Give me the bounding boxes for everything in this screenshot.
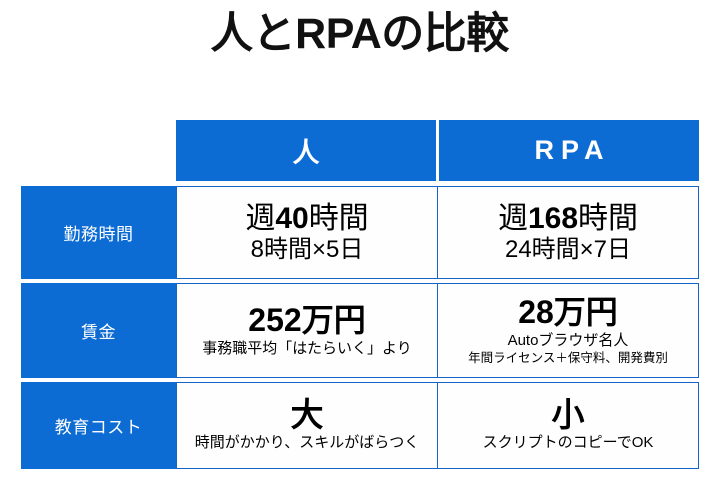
cell-note-line: 事務職平均「はたらいく」より — [202, 339, 411, 359]
table-row: 賃金 252万円 事務職平均「はたらいく」より 28万円 Autoブラウザ名人 … — [21, 283, 699, 378]
main-value: 40 — [275, 202, 308, 235]
comparison-table: 人 RPA 勤務時間 週40時間 8時間×5日 週168時間 24時間×7日 賃… — [21, 120, 699, 469]
cell-note-line-secondary: 年間ライセンス＋保守料、開発費別 — [468, 350, 668, 366]
main-prefix: 週 — [245, 202, 275, 235]
main-value: 168 — [528, 202, 578, 235]
main-value: 大 — [291, 396, 324, 433]
main-prefix: 週 — [498, 202, 528, 235]
cell-rpa-training-cost: 小 スクリプトのコピーでOK — [438, 382, 699, 469]
row-label-text: 賃金 — [81, 318, 116, 343]
cell-main-line: 大 — [291, 398, 324, 433]
cell-main-line: 週40時間 — [245, 202, 368, 236]
cell-main-line: 週168時間 — [498, 202, 638, 236]
row-label-training-cost: 教育コスト — [21, 382, 176, 469]
cell-rpa-working-hours: 週168時間 24時間×7日 — [438, 186, 699, 279]
cell-note-line: 時間がかかり、スキルがばらつく — [195, 433, 419, 453]
cell-sub-line: 8時間×5日 — [251, 236, 364, 264]
cell-main-line: 252万円 — [248, 303, 365, 339]
main-value: 252 — [248, 302, 301, 338]
main-value: 小 — [552, 396, 585, 433]
row-label-text: 勤務時間 — [64, 220, 134, 245]
main-suffix: 万円 — [302, 302, 366, 338]
cell-main-line: 小 — [552, 398, 585, 433]
cell-main-line: 28万円 — [518, 295, 618, 331]
main-suffix: 万円 — [554, 294, 618, 330]
column-header-rpa-label: RPA — [527, 135, 610, 166]
cell-sub-line: 24時間×7日 — [505, 236, 631, 264]
main-suffix: 時間 — [309, 202, 369, 235]
cell-human-wage: 252万円 事務職平均「はたらいく」より — [176, 283, 438, 378]
row-label-wage: 賃金 — [21, 283, 176, 378]
main-suffix: 時間 — [578, 202, 638, 235]
table-header-row: 人 RPA — [21, 120, 699, 181]
column-header-human: 人 — [176, 120, 436, 181]
cell-note-line: スクリプトのコピーでOK — [483, 433, 654, 453]
table-row: 教育コスト 大 時間がかかり、スキルがばらつく 小 スクリプトのコピーでOK — [21, 382, 699, 469]
cell-note-line: Autoブラウザ名人 — [508, 331, 629, 351]
table-row: 勤務時間 週40時間 8時間×5日 週168時間 24時間×7日 — [21, 186, 699, 279]
row-label-text: 教育コスト — [55, 413, 143, 438]
cell-rpa-wage: 28万円 Autoブラウザ名人 年間ライセンス＋保守料、開発費別 — [438, 283, 699, 378]
column-header-rpa: RPA — [439, 120, 699, 181]
header-corner-cell — [21, 120, 176, 181]
column-header-human-label: 人 — [293, 131, 320, 170]
cell-human-working-hours: 週40時間 8時間×5日 — [176, 186, 438, 279]
cell-human-training-cost: 大 時間がかかり、スキルがばらつく — [176, 382, 438, 469]
page-title: 人とRPAの比較 — [0, 10, 719, 59]
main-value: 28 — [518, 294, 554, 330]
row-label-working-hours: 勤務時間 — [21, 186, 176, 279]
